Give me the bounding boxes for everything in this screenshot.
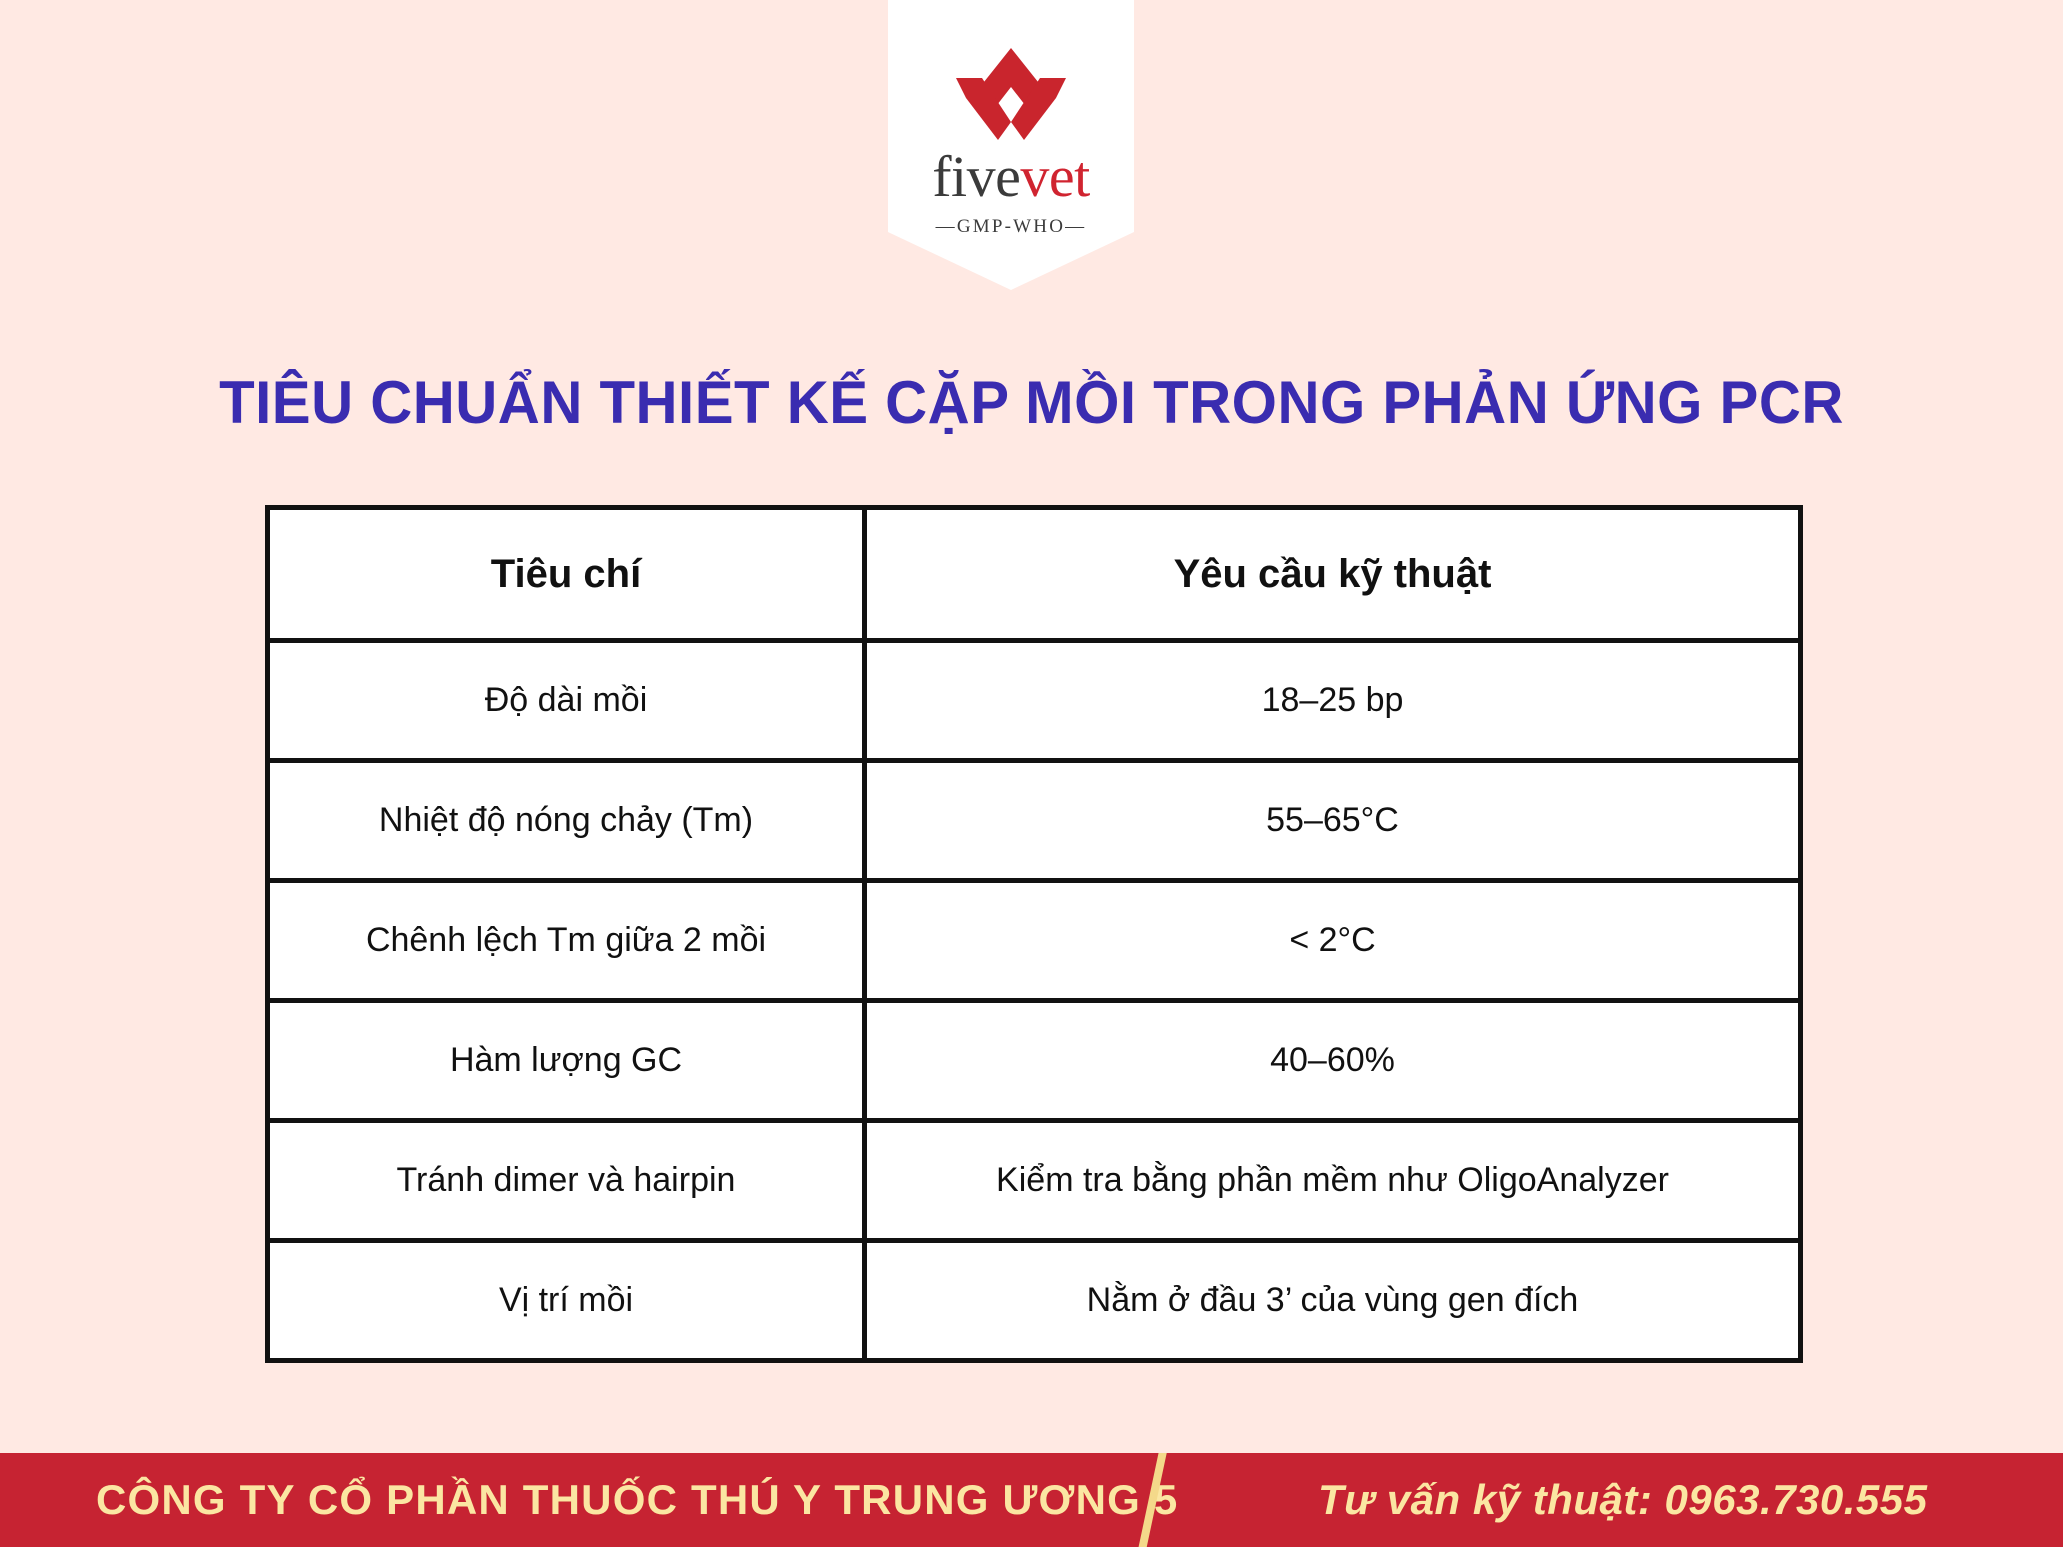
brand-wordmark-five: five xyxy=(932,144,1020,209)
cell-requirement: Kiểm tra bằng phần mềm như OligoAnalyzer xyxy=(865,1121,1801,1241)
poster-canvas: fivevet —GMP-WHO— TIÊU CHUẨN THIẾT KẾ CẶ… xyxy=(0,0,2063,1547)
cell-requirement: 18–25 bp xyxy=(865,641,1801,761)
table-row: Chênh lệch Tm giữa 2 mồi < 2°C xyxy=(268,881,1801,1001)
footer-company-name: CÔNG TY CỔ PHẦN THUỐC THÚ Y TRUNG ƯƠNG 5 xyxy=(96,1453,1178,1547)
cell-requirement: < 2°C xyxy=(865,881,1801,1001)
cell-criteria: Chênh lệch Tm giữa 2 mồi xyxy=(268,881,865,1001)
fivevet-chevron-mark xyxy=(936,44,1086,140)
brand-wordmark: fivevet xyxy=(932,148,1090,206)
brand-tagline: —GMP-WHO— xyxy=(936,216,1087,238)
cell-criteria: Độ dài mồi xyxy=(268,641,865,761)
table-head: Tiêu chí Yêu cầu kỹ thuật xyxy=(268,508,1801,641)
brand-logo-ribbon: fivevet —GMP-WHO— xyxy=(888,0,1134,290)
table-row: Nhiệt độ nóng chảy (Tm) 55–65°C xyxy=(268,761,1801,881)
cell-requirement: 40–60% xyxy=(865,1001,1801,1121)
cell-requirement: 55–65°C xyxy=(865,761,1801,881)
pcr-primer-spec-table: Tiêu chí Yêu cầu kỹ thuật Độ dài mồi 18–… xyxy=(265,505,1803,1363)
cell-criteria: Tránh dimer và hairpin xyxy=(268,1121,865,1241)
page-title: TIÊU CHUẨN THIẾT KẾ CẶP MỒI TRONG PHẢN Ứ… xyxy=(31,368,2032,437)
footer-bar: CÔNG TY CỔ PHẦN THUỐC THÚ Y TRUNG ƯƠNG 5… xyxy=(0,1453,2063,1547)
table-header-row: Tiêu chí Yêu cầu kỹ thuật xyxy=(268,508,1801,641)
table-body: Độ dài mồi 18–25 bp Nhiệt độ nóng chảy (… xyxy=(268,641,1801,1361)
column-header-requirement: Yêu cầu kỹ thuật xyxy=(865,508,1801,641)
table-row: Vị trí mồi Nằm ở đầu 3’ của vùng gen đíc… xyxy=(268,1241,1801,1361)
footer-hotline: Tư vấn kỹ thuật: 0963.730.555 xyxy=(1318,1453,1927,1547)
cell-criteria: Nhiệt độ nóng chảy (Tm) xyxy=(268,761,865,881)
table-row: Hàm lượng GC 40–60% xyxy=(268,1001,1801,1121)
cell-requirement: Nằm ở đầu 3’ của vùng gen đích xyxy=(865,1241,1801,1361)
column-header-criteria: Tiêu chí xyxy=(268,508,865,641)
cell-criteria: Hàm lượng GC xyxy=(268,1001,865,1121)
table-row: Tránh dimer và hairpin Kiểm tra bằng phầ… xyxy=(268,1121,1801,1241)
cell-criteria: Vị trí mồi xyxy=(268,1241,865,1361)
brand-wordmark-vet: vet xyxy=(1020,144,1089,209)
table-row: Độ dài mồi 18–25 bp xyxy=(268,641,1801,761)
